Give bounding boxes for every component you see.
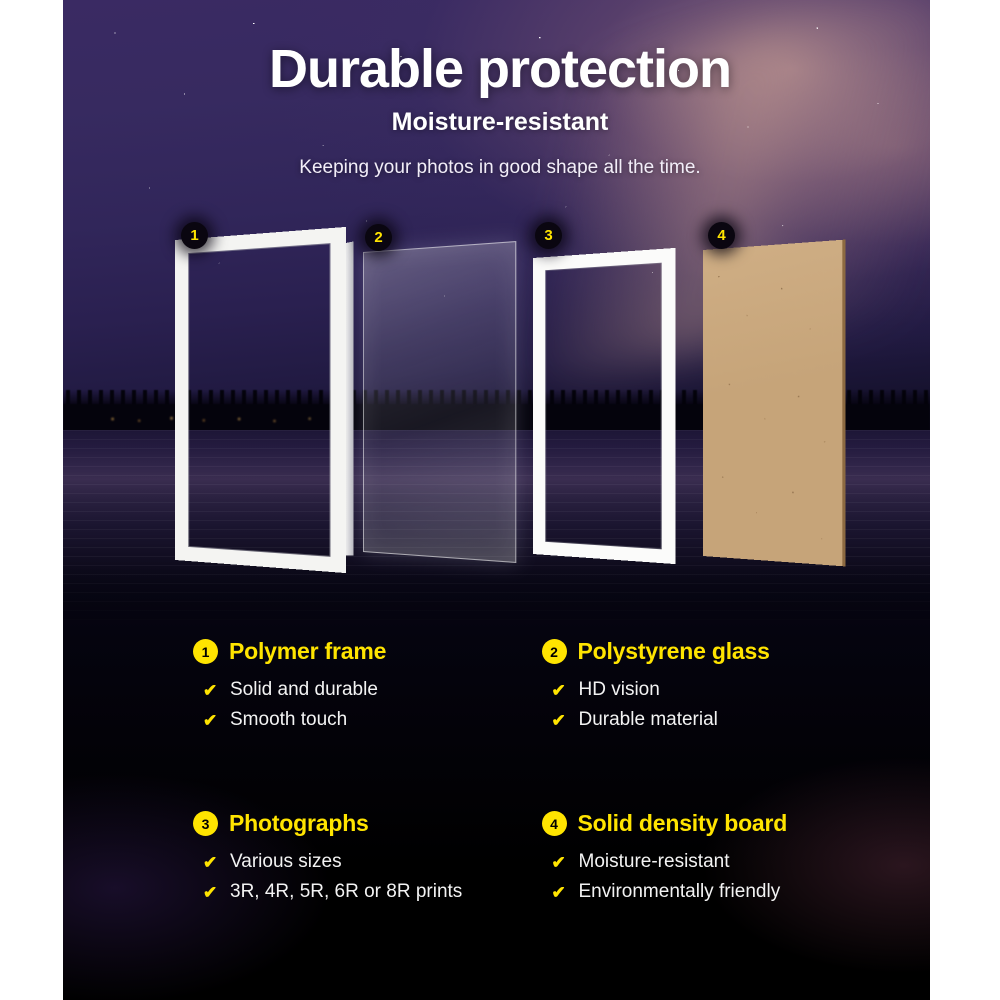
part-polystyrene-glass [363,252,515,552]
polymer-frame-face [175,227,346,573]
page-tagline: Keeping your photos in good shape all th… [0,157,1000,179]
diagram-marker-1: 1 [181,222,208,249]
feature-2-title: Polystyrene glass [578,638,770,665]
feature-2-heading: 2 Polystyrene glass [542,638,871,665]
feature-3-heading: 3 Photographs [193,810,522,837]
check-icon: ✔ [203,712,217,729]
feature-block-3: 3 Photographs ✔ Various sizes ✔ 3R, 4R, … [193,810,522,960]
feature-block-4: 4 Solid density board ✔ Moisture-resista… [542,810,871,960]
part-photograph-mat [533,258,675,554]
feature-1-item-2: ✔ Smooth touch [203,709,522,731]
feature-1-badge: 1 [193,639,218,664]
part-polymer-frame [175,240,343,560]
feature-block-2: 2 Polystyrene glass ✔ HD vision ✔ Durabl… [542,638,871,788]
feature-3-item-1-text: Various sizes [230,851,342,873]
feature-1-item-1-text: Solid and durable [230,679,378,701]
feature-2-badge: 2 [542,639,567,664]
page-subtitle: Moisture-resistant [0,108,1000,137]
check-icon: ✔ [552,884,566,901]
feature-2-item-1: ✔ HD vision [552,679,871,701]
check-icon: ✔ [203,682,217,699]
feature-4-title: Solid density board [578,810,788,837]
part-solid-density-board [703,250,845,556]
feature-3-item-1: ✔ Various sizes [203,851,522,873]
check-icon: ✔ [203,854,217,871]
feature-block-1: 1 Polymer frame ✔ Solid and durable ✔ Sm… [193,638,522,788]
feature-1-title: Polymer frame [229,638,386,665]
glass-face [363,241,516,563]
feature-3-item-2-text: 3R, 4R, 5R, 6R or 8R prints [230,881,462,903]
feature-3-title: Photographs [229,810,369,837]
feature-3-badge: 3 [193,811,218,836]
diagram-marker-4: 4 [708,222,735,249]
feature-list: 1 Polymer frame ✔ Solid and durable ✔ Sm… [63,630,930,960]
feature-4-item-2-text: Environmentally friendly [579,881,781,903]
feature-1-item-2-text: Smooth touch [230,709,347,731]
header-block: Durable protection Moisture-resistant Ke… [0,0,1000,179]
check-icon: ✔ [552,712,566,729]
feature-4-item-1: ✔ Moisture-resistant [552,851,871,873]
page-title: Durable protection [0,38,1000,100]
feature-2-item-1-text: HD vision [579,679,660,701]
check-icon: ✔ [552,682,566,699]
feature-3-item-2: ✔ 3R, 4R, 5R, 6R or 8R prints [203,881,522,903]
diagram-marker-2: 2 [365,224,392,251]
feature-4-item-1-text: Moisture-resistant [579,851,730,873]
check-icon: ✔ [203,884,217,901]
product-infographic: 1 2 3 4 Durable protection Moisture-resi… [0,0,1000,1000]
diagram-marker-3: 3 [535,222,562,249]
feature-2-item-2: ✔ Durable material [552,709,871,731]
board-face [703,240,846,567]
feature-4-badge: 4 [542,811,567,836]
feature-4-heading: 4 Solid density board [542,810,871,837]
feature-2-item-2-text: Durable material [579,709,718,731]
feature-1-heading: 1 Polymer frame [193,638,522,665]
feature-1-item-1: ✔ Solid and durable [203,679,522,701]
feature-4-item-2: ✔ Environmentally friendly [552,881,871,903]
mat-face [533,248,676,564]
check-icon: ✔ [552,854,566,871]
